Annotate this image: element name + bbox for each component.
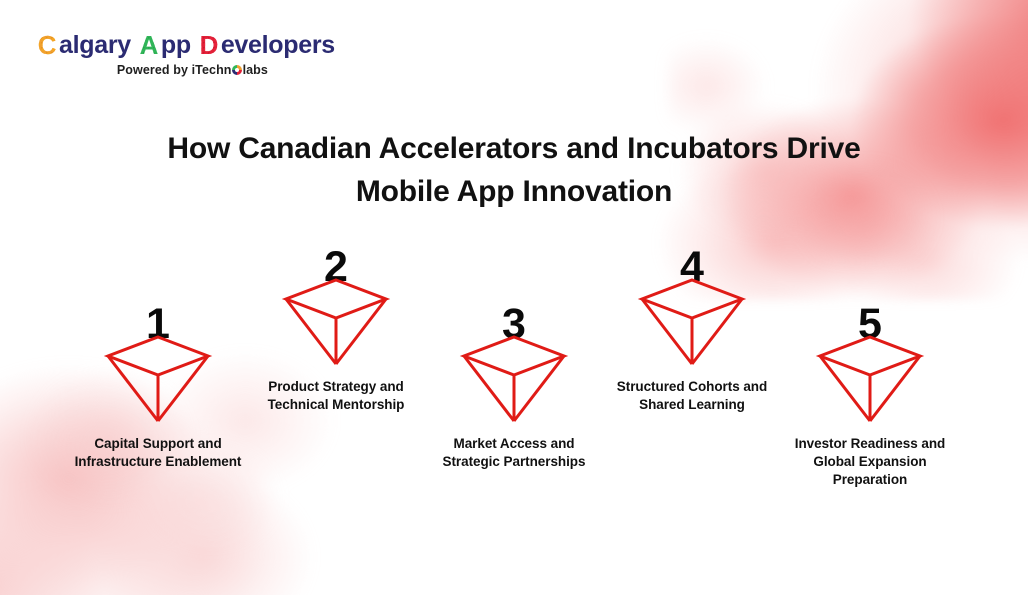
logo-initial-a-icon: A	[138, 32, 160, 58]
brand-tagline: Powered by iTechnlabs	[36, 63, 335, 77]
infographic-canvas: C algary A pp D evelopers Powered by iTe…	[0, 0, 1028, 595]
step-item[interactable]: 1Capital Support and Infrastructure Enab…	[74, 305, 242, 471]
tagline-text-before: Powered by iTechn	[117, 63, 232, 77]
step-icon-wrapper: 4	[637, 248, 747, 366]
step-icon-wrapper: 3	[459, 305, 569, 423]
pyramid-top-face	[820, 337, 920, 375]
itechnolabs-ring-icon	[232, 65, 242, 75]
page-title-line-1: How Canadian Accelerators and Incubators…	[90, 128, 938, 171]
step-icon-wrapper: 1	[103, 305, 213, 423]
logo-word-developers: evelopers	[221, 33, 335, 58]
step-item[interactable]: 5Investor Readiness and Global Expansion…	[786, 305, 954, 489]
inverted-pyramid-icon	[815, 333, 925, 423]
step-label: Structured Cohorts and Shared Learning	[608, 378, 776, 414]
logo-initial-c-icon: C	[36, 32, 58, 58]
logo-initial-d-glyph: D	[198, 32, 220, 58]
step-icon-wrapper: 2	[281, 248, 391, 366]
inverted-pyramid-icon	[103, 333, 213, 423]
inverted-pyramid-icon	[459, 333, 569, 423]
logo-initial-d-icon: D	[198, 32, 220, 58]
pyramid-top-face	[108, 337, 208, 375]
pyramid-top-face	[286, 280, 386, 318]
logo-word-calgary: algary	[59, 33, 131, 58]
page-title: How Canadian Accelerators and Incubators…	[0, 128, 1028, 213]
inverted-pyramid-icon	[281, 276, 391, 366]
brand-wordmark: C algary A pp D evelopers	[36, 32, 335, 58]
step-item[interactable]: 3Market Access and Strategic Partnership…	[430, 305, 598, 471]
step-label: Market Access and Strategic Partnerships	[430, 435, 598, 471]
step-label: Capital Support and Infrastructure Enabl…	[74, 435, 242, 471]
pyramid-top-face	[642, 280, 742, 318]
logo-word-app: pp	[161, 33, 191, 58]
logo-initial-c-glyph: C	[36, 32, 58, 58]
page-title-line-2: Mobile App Innovation	[90, 171, 938, 214]
steps-row: 1Capital Support and Infrastructure Enab…	[0, 248, 1028, 538]
pyramid-top-face	[464, 337, 564, 375]
step-icon-wrapper: 5	[815, 305, 925, 423]
step-label: Investor Readiness and Global Expansion …	[786, 435, 954, 489]
brand-logo: C algary A pp D evelopers Powered by iTe…	[36, 32, 335, 77]
step-item[interactable]: 2Product Strategy and Technical Mentorsh…	[252, 248, 420, 414]
step-item[interactable]: 4Structured Cohorts and Shared Learning	[608, 248, 776, 414]
tagline-text-after: labs	[243, 63, 268, 77]
logo-initial-a-glyph: A	[138, 32, 160, 58]
inverted-pyramid-icon	[637, 276, 747, 366]
step-label: Product Strategy and Technical Mentorshi…	[252, 378, 420, 414]
